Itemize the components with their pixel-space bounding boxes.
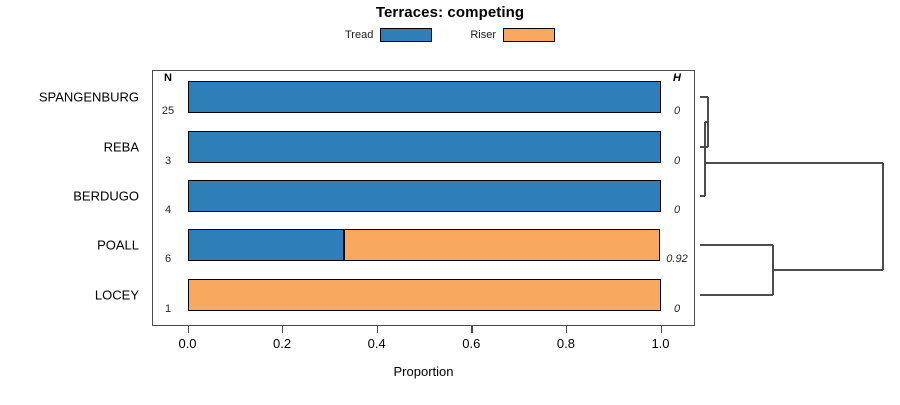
n-column: N253461 (152, 70, 188, 326)
h-column-value: 0 (660, 105, 694, 117)
n-column-value: 1 (152, 303, 184, 315)
n-column-value: 3 (152, 155, 184, 167)
x-axis-tick (661, 326, 662, 333)
chart-root: Terraces: competing Tread Riser SPANGENB… (0, 0, 900, 400)
y-axis-label: REBA (104, 139, 139, 154)
n-column-value: 25 (152, 105, 184, 117)
x-axis-tick-label: 1.0 (651, 336, 669, 351)
n-column-value: 6 (152, 253, 184, 265)
legend-swatch-tread (380, 28, 432, 42)
y-axis-label: SPANGENBURG (39, 90, 139, 105)
n-column-header: N (152, 72, 184, 84)
y-axis-label: BERDUGO (73, 189, 139, 204)
x-axis-tick (282, 326, 283, 333)
y-axis-label: POALL (97, 238, 139, 253)
dendrogram (695, 0, 900, 400)
legend-item-riser[interactable]: Riser (470, 28, 555, 42)
x-axis-tick (471, 326, 472, 333)
x-axis-tick (188, 326, 189, 333)
h-column-value: 0 (660, 204, 694, 216)
legend-label-tread: Tread (345, 29, 373, 41)
y-axis-labels: SPANGENBURGREBABERDUGOPOALLLOCEY (0, 70, 145, 326)
x-axis-tick-label: 0.8 (557, 336, 575, 351)
legend-item-tread[interactable]: Tread (345, 28, 432, 42)
h-column-value: 0.92 (660, 253, 694, 265)
legend-swatch-riser (503, 28, 555, 42)
h-column-value: 0 (660, 303, 694, 315)
x-axis-tick (377, 326, 378, 333)
dendrogram-svg (695, 0, 900, 400)
plot-panel (152, 70, 695, 326)
x-axis-tick-label: 0.0 (178, 336, 196, 351)
x-axis-tick-label: 0.2 (273, 336, 291, 351)
x-axis-tick-label: 0.4 (368, 336, 386, 351)
h-column: H0000.920 (660, 70, 696, 326)
x-axis-tick-label: 0.6 (462, 336, 480, 351)
y-axis-label: LOCEY (95, 287, 139, 302)
legend-label-riser: Riser (470, 29, 496, 41)
n-column-value: 4 (152, 204, 184, 216)
h-column-header: H (660, 72, 694, 84)
x-axis-tick (566, 326, 567, 333)
h-column-value: 0 (660, 155, 694, 167)
